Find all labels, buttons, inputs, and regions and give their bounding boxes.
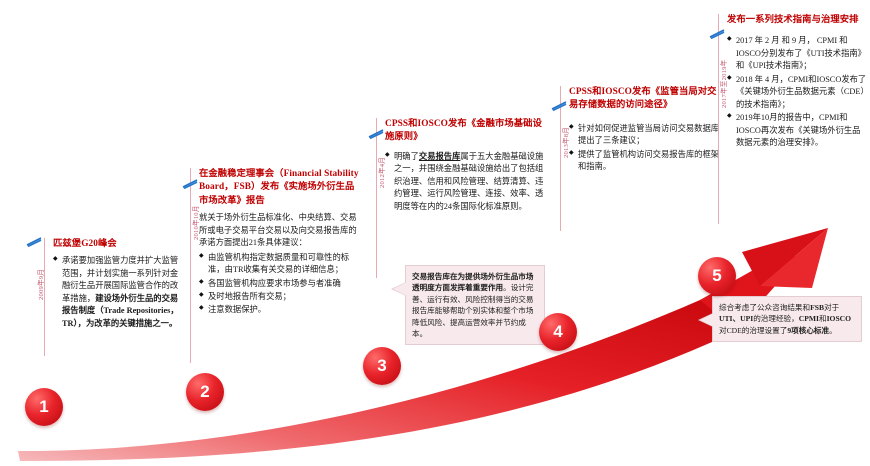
- step-node-4-label: 4: [553, 322, 562, 342]
- step-3-bullets: 明确了交易报告库属于五大金融基础设施之一，并围绕金融基础设施给出了包括组织治理、…: [385, 151, 548, 213]
- step-4-title: CPSS和IOSCO发布《监管当局对交易存储数据的访问途径》: [569, 86, 720, 113]
- step-3-date: 2012年4月: [376, 157, 386, 188]
- callout-tr-transparency: 交易报告库在为提供场外衍生品市场透明度方面发挥着重要作用。设计完善、运行有效、风…: [405, 265, 545, 345]
- list-item: 注意数据保护。: [199, 304, 362, 316]
- step-node-1-label: 1: [39, 397, 48, 417]
- step-node-2-label: 2: [200, 382, 209, 402]
- list-item: 针对如何促进监管当局访问交易数据库提出了三条建议；: [569, 123, 720, 148]
- step-1-title: 匹兹堡G20峰会: [53, 238, 184, 251]
- step-node-5[interactable]: 5: [698, 257, 736, 295]
- timeline-diagram: 匹兹堡G20峰会 承诺要加强监管力度并扩大监管范围，并计划实施一系列针对金融衍生…: [0, 0, 870, 461]
- step-2-title: 在金融稳定理事会（Financial Stability Board，FSB）发…: [199, 168, 362, 208]
- step-4-bullets: 针对如何促进监管当局访问交易数据库提出了三条建议； 提供了监管机构访问交易报告库…: [569, 123, 720, 174]
- list-item: 各国监管机构应要求市场参与者准确: [199, 278, 362, 290]
- list-item: 2018 年 4 月，CPMI和IOSCO发布了《关键场外衍生品数据元素（CDE…: [727, 74, 868, 111]
- step-node-3[interactable]: 3: [363, 347, 401, 385]
- step-5-block: 发布一系列技术指南与治理安排 2017 年 2 月 和 9 月， CPMI 和 …: [718, 14, 868, 224]
- step-5-date: 2017年至2019年: [718, 60, 728, 108]
- step-3-rule: [376, 118, 377, 278]
- step-2-intro: 就关于场外衍生品标准化、中央结算、交易所或电子交易平台交易以及向交易报告库的承诺…: [199, 212, 362, 249]
- step-4-block: CPSS和IOSCO发布《监管当局对交易存储数据的访问途径》 针对如何促进监管当…: [560, 86, 720, 231]
- step-1-date: 2009年9月: [35, 269, 45, 300]
- step-1-block: 匹兹堡G20峰会 承诺要加强监管力度并扩大监管范围，并计划实施一系列针对金融衍生…: [44, 238, 184, 356]
- flag-icon: [709, 28, 725, 39]
- list-item: 承诺要加强监管力度并扩大监管范围，并计划实施一系列针对金融衍生品开展国际监管合作…: [53, 255, 184, 330]
- step-5-bullets: 2017 年 2 月 和 9 月， CPMI 和 IOSCO分别发布了《UTI技…: [727, 35, 868, 149]
- step-2-block: 在金融稳定理事会（Financial Stability Board，FSB）发…: [190, 168, 362, 363]
- step-node-5-label: 5: [712, 266, 721, 286]
- step-2-date: 2010年10月: [190, 205, 200, 240]
- callout-cde-core-standards: 综合考虑了公众咨询结果和FSB对于UTI、UPI的治理经验，CPMI和IOSCO…: [712, 296, 862, 342]
- flag-icon: [551, 100, 567, 111]
- list-item: 明确了交易报告库属于五大金融基础设施之一，并围绕金融基础设施给出了包括组织治理、…: [385, 151, 548, 213]
- list-item: 2019年10月的报告中，CPMI和IOSCO再次发布《关键场外衍生品数据元素的…: [727, 112, 868, 149]
- step-5-title: 发布一系列技术指南与治理安排: [727, 14, 868, 27]
- list-item: 2017 年 2 月 和 9 月， CPMI 和 IOSCO分别发布了《UTI技…: [727, 35, 868, 72]
- flag-icon: [368, 128, 384, 139]
- step-node-4[interactable]: 4: [539, 313, 577, 351]
- step-4-date: 2013年8月: [560, 127, 570, 158]
- step-2-bullets: 由监管机构指定数据质量和可靠性的标准，由TR收集有关交易的详细信息； 各国监管机…: [199, 252, 362, 317]
- flag-icon: [182, 178, 198, 189]
- callout-2-text: 综合考虑了公众咨询结果和FSB对于UTI、UPI的治理经验，CPMI和IOSCO…: [719, 303, 851, 335]
- flag-icon: [26, 236, 42, 247]
- list-item: 提供了监管机构访问交易报告库的框架和指南。: [569, 149, 720, 174]
- step-2-rule: [190, 168, 191, 363]
- step-5-rule: [718, 14, 719, 224]
- step-node-2[interactable]: 2: [186, 373, 224, 411]
- step-node-3-label: 3: [377, 356, 386, 376]
- step-3-block: CPSS和IOSCO发布《金融市场基础设施原则》 明确了交易报告库属于五大金融基…: [376, 118, 548, 278]
- list-item: 由监管机构指定数据质量和可靠性的标准，由TR收集有关交易的详细信息；: [199, 252, 362, 277]
- step-1-bullets: 承诺要加强监管力度并扩大监管范围，并计划实施一系列针对金融衍生品开展国际监管合作…: [53, 255, 184, 330]
- step-3-title: CPSS和IOSCO发布《金融市场基础设施原则》: [385, 118, 548, 145]
- list-item-cont: 及时地报告所有交易；: [199, 291, 362, 303]
- step-node-1[interactable]: 1: [25, 388, 63, 426]
- step-3-bullet-text: 明确了交易报告库属于五大金融基础设施之一，并围绕金融基础设施给出了包括组织治理、…: [394, 152, 543, 211]
- callout-1-text: 交易报告库在为提供场外衍生品市场透明度方面发挥着重要作用。设计完善、运行有效、风…: [412, 272, 534, 338]
